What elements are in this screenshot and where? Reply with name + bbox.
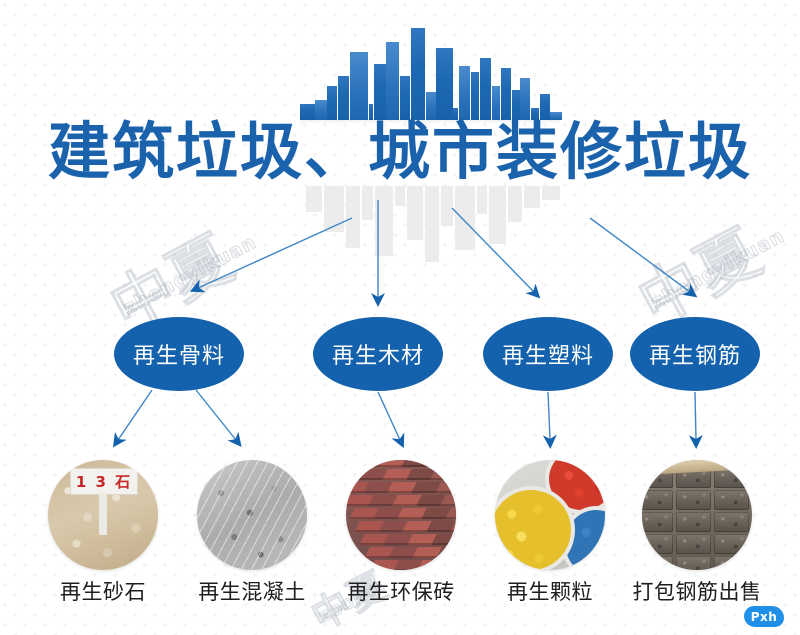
ghost-skyline-bar bbox=[425, 186, 439, 262]
brick-unit bbox=[435, 482, 456, 493]
rebar-bale bbox=[676, 512, 711, 532]
category-oval-wood[interactable]: 再生木材 bbox=[313, 317, 443, 391]
rebar-bale bbox=[642, 556, 673, 570]
gravel-sign: 1 3 石 bbox=[70, 468, 138, 495]
ghost-skyline-bar bbox=[306, 186, 322, 212]
skyline-bar bbox=[338, 76, 349, 120]
skyline-bar bbox=[501, 68, 511, 120]
ghost-skyline-bar bbox=[455, 186, 475, 250]
rebar-bale bbox=[642, 490, 673, 510]
brick-unit bbox=[430, 469, 456, 480]
rebar-bale bbox=[676, 556, 711, 570]
rebar-bale bbox=[714, 468, 749, 488]
skyline-bar bbox=[459, 66, 470, 120]
page-title: 建筑垃圾、城市装修垃圾 bbox=[0, 115, 800, 189]
product-image-baled-rebar[interactable] bbox=[642, 460, 752, 570]
skyline-bar bbox=[480, 58, 491, 120]
category-oval-aggregate[interactable]: 再生骨料 bbox=[114, 317, 244, 391]
skyline-bar bbox=[386, 42, 399, 120]
rebar-bale bbox=[642, 534, 673, 554]
ghost-skyline-bar bbox=[508, 186, 522, 222]
watermark-en-left: zhongyikuan bbox=[120, 231, 260, 320]
ghost-skyline-graphic bbox=[300, 186, 560, 264]
ghost-skyline-bar bbox=[441, 186, 453, 226]
ghost-skyline-bar bbox=[407, 186, 423, 240]
skyline-bar bbox=[374, 64, 385, 120]
product-image-concrete[interactable] bbox=[197, 460, 307, 570]
rebar-bale bbox=[642, 512, 673, 532]
skyline-bar bbox=[471, 72, 479, 120]
skyline-bar bbox=[411, 28, 426, 120]
ghost-skyline-bar bbox=[362, 186, 374, 220]
category-label: 再生骨料 bbox=[133, 338, 225, 370]
product-caption-concrete: 再生混凝土 bbox=[182, 576, 322, 606]
category-oval-plastic[interactable]: 再生塑料 bbox=[483, 317, 613, 391]
ghost-skyline-bar bbox=[324, 186, 344, 232]
infographic-canvas: 中夏 zhongyikuan 中夏 zhongyikuan 中夏 ZOONYE … bbox=[0, 0, 800, 635]
product-image-pellets[interactable] bbox=[495, 460, 605, 570]
product-caption-eco-brick: 再生环保砖 bbox=[331, 576, 471, 606]
brick-unit bbox=[431, 534, 456, 545]
bale-photo bbox=[642, 460, 752, 570]
skyline-bar bbox=[520, 78, 530, 120]
rebar-bale bbox=[714, 556, 749, 570]
skyline-bar bbox=[436, 48, 452, 120]
pxh-badge[interactable]: Pxh bbox=[744, 606, 784, 627]
product-image-sand-gravel[interactable]: 1 3 石 bbox=[48, 460, 158, 570]
skyline-bar bbox=[350, 52, 368, 120]
category-label: 再生木材 bbox=[332, 338, 424, 370]
ghost-skyline-bar bbox=[524, 186, 540, 208]
rebar-bale bbox=[676, 490, 711, 510]
product-caption-baled-rebar: 打包钢筋出售 bbox=[622, 576, 772, 606]
gravel-sign-post bbox=[99, 493, 107, 535]
ghost-skyline-bar bbox=[375, 186, 393, 256]
city-skyline-bar-graphic bbox=[300, 22, 560, 120]
skyline-bar bbox=[400, 76, 410, 120]
ghost-skyline-bar bbox=[395, 186, 405, 206]
ghost-skyline-bar bbox=[346, 186, 360, 248]
rebar-bale bbox=[714, 512, 749, 532]
product-caption-pellets: 再生颗粒 bbox=[480, 576, 620, 606]
rebar-bale bbox=[676, 534, 711, 554]
category-label: 再生钢筋 bbox=[649, 338, 741, 370]
product-caption-sand-gravel: 再生砂石 bbox=[33, 576, 173, 606]
category-oval-rebar[interactable]: 再生钢筋 bbox=[630, 317, 760, 391]
rebar-bale bbox=[714, 490, 749, 510]
category-label: 再生塑料 bbox=[502, 338, 594, 370]
rebar-bale bbox=[714, 534, 749, 554]
concrete-photo bbox=[197, 460, 307, 570]
product-image-eco-brick[interactable] bbox=[346, 460, 456, 570]
watermark-en-right: zhongyikuan bbox=[648, 225, 788, 314]
pellet-photo bbox=[495, 460, 605, 570]
brick-photo bbox=[346, 460, 456, 570]
ghost-skyline-bar bbox=[477, 186, 487, 214]
ghost-skyline-bar bbox=[489, 186, 507, 244]
